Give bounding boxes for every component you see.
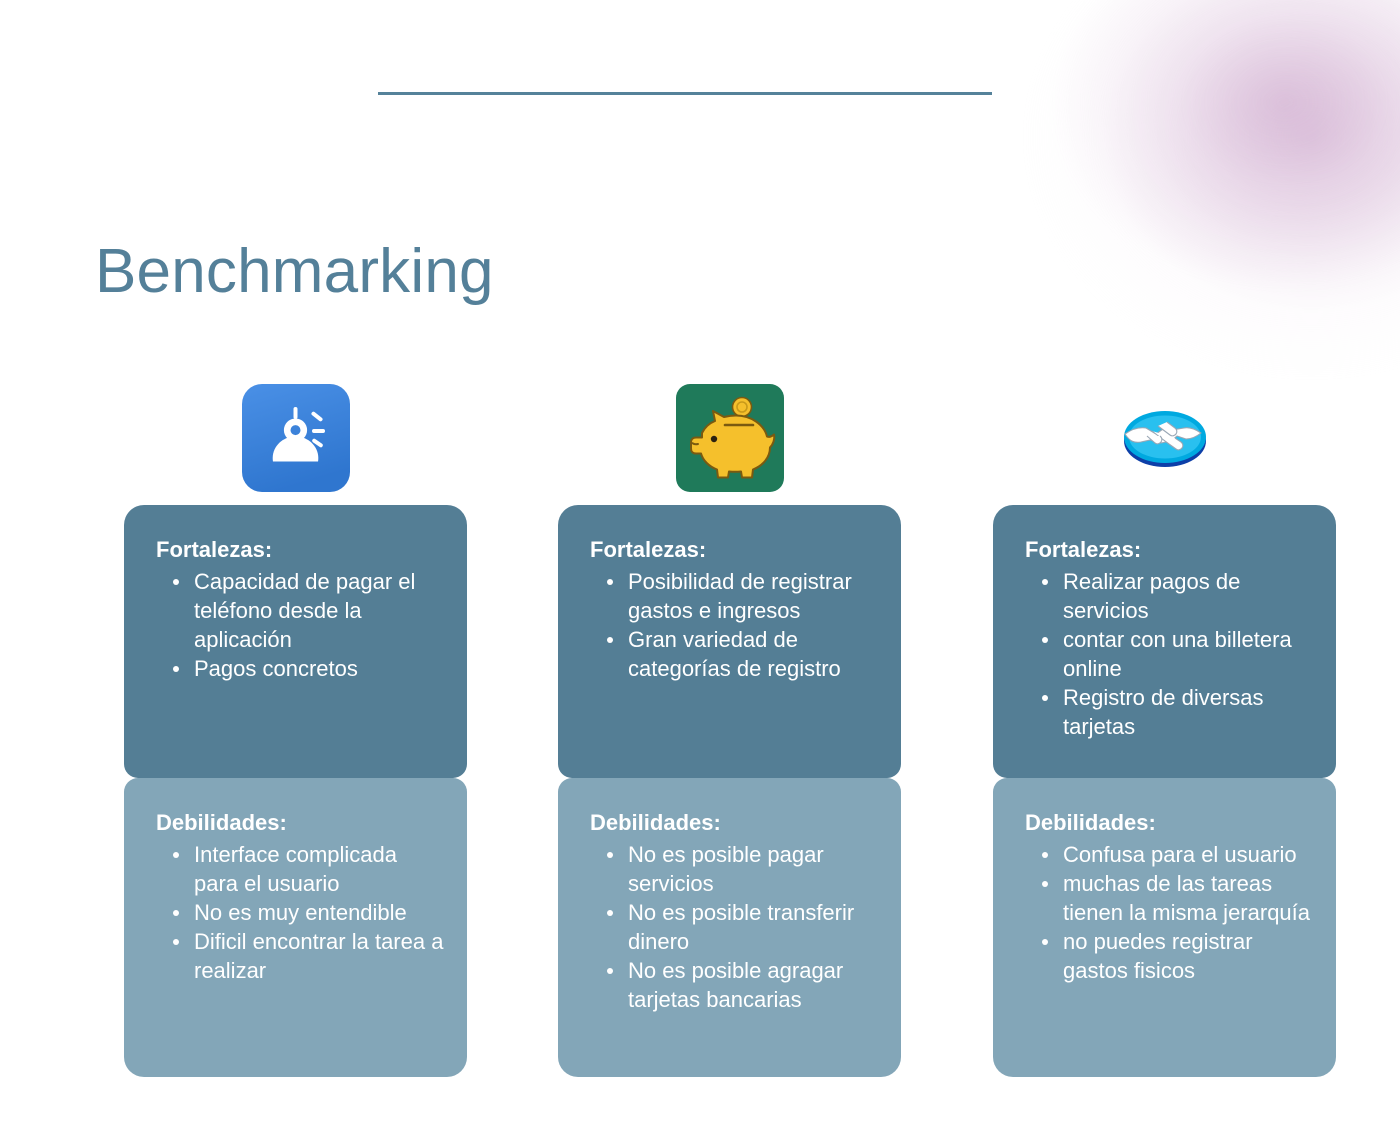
strengths-panel: Fortalezas:Posibilidad de registrar gast… — [558, 505, 901, 778]
strengths-list: Capacidad de pagar el teléfono desde la … — [156, 567, 445, 683]
list-item: Realizar pagos de servicios — [1025, 567, 1314, 625]
sun-cloud-icon — [242, 384, 350, 492]
weaknesses-list: Confusa para el usuariomuchas de las tar… — [1025, 840, 1314, 985]
weaknesses-panel: Debilidades:Confusa para el usuariomucha… — [993, 778, 1336, 1077]
weaknesses-panel: Debilidades:Interface complicada para el… — [124, 778, 467, 1077]
weaknesses-list: No es posible pagar serviciosNo es posib… — [590, 840, 879, 1014]
list-item: Gran variedad de categorías de registro — [590, 625, 879, 683]
piggy-bank-icon — [676, 384, 784, 492]
list-item: no puedes registrar gastos fisicos — [1025, 927, 1314, 985]
list-item: Capacidad de pagar el teléfono desde la … — [156, 567, 445, 654]
weaknesses-heading: Debilidades: — [156, 808, 445, 838]
list-item: Posibilidad de registrar gastos e ingres… — [590, 567, 879, 625]
list-item: Pagos concretos — [156, 654, 445, 683]
weaknesses-heading: Debilidades: — [1025, 808, 1314, 838]
weaknesses-heading: Debilidades: — [590, 808, 879, 838]
list-item: Interface complicada para el usuario — [156, 840, 445, 898]
strengths-heading: Fortalezas: — [1025, 535, 1314, 565]
strengths-heading: Fortalezas: — [156, 535, 445, 565]
app-icon-container-1[interactable] — [124, 375, 467, 500]
app-icon-container-2[interactable] — [558, 375, 901, 500]
list-item: Confusa para el usuario — [1025, 840, 1314, 869]
list-item: No es muy entendible — [156, 898, 445, 927]
list-item: contar con una billetera online — [1025, 625, 1314, 683]
list-item: muchas de las tareas tienen la misma jer… — [1025, 869, 1314, 927]
strengths-panel: Fortalezas:Capacidad de pagar el teléfon… — [124, 505, 467, 778]
weaknesses-panel: Debilidades:No es posible pagar servicio… — [558, 778, 901, 1077]
app-icon-container-3[interactable] — [993, 375, 1336, 500]
benchmarking-columns: Fortalezas:Capacidad de pagar el teléfon… — [0, 0, 1400, 1144]
benchmark-card-3: Fortalezas:Realizar pagos de serviciosco… — [993, 505, 1336, 1077]
strengths-heading: Fortalezas: — [590, 535, 879, 565]
strengths-panel: Fortalezas:Realizar pagos de serviciosco… — [993, 505, 1336, 778]
list-item: No es posible transferir dinero — [590, 898, 879, 956]
list-item: No es posible pagar servicios — [590, 840, 879, 898]
weaknesses-list: Interface complicada para el usuarioNo e… — [156, 840, 445, 985]
list-item: Dificil encontrar la tarea a realizar — [156, 927, 445, 985]
piggy-bank-savings-app-icon[interactable] — [676, 384, 784, 492]
list-item: No es posible agragar tarjetas bancarias — [590, 956, 879, 1014]
list-item: Registro de diversas tarjetas — [1025, 683, 1314, 741]
strengths-list: Realizar pagos de servicioscontar con un… — [1025, 567, 1314, 741]
strengths-list: Posibilidad de registrar gastos e ingres… — [590, 567, 879, 683]
handshake-icon — [1111, 384, 1219, 492]
handshake-mercadopago-app-icon[interactable] — [1111, 384, 1219, 492]
sun-cloud-weather-app-icon[interactable] — [242, 384, 350, 492]
benchmark-card-1: Fortalezas:Capacidad de pagar el teléfon… — [124, 505, 467, 1077]
benchmark-card-2: Fortalezas:Posibilidad de registrar gast… — [558, 505, 901, 1077]
